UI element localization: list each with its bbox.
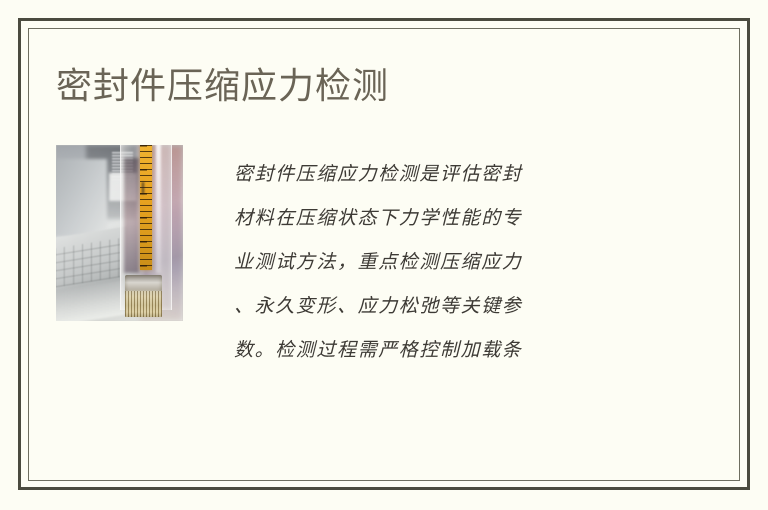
- flowmeter-brass-fitting: [125, 275, 163, 317]
- page-title: 密封件压缩应力检测: [56, 64, 389, 108]
- article-line: 、永久变形、应力松弛等关键参: [234, 284, 646, 328]
- flowmeter-major-ticks: [140, 145, 148, 270]
- article-line: 数。检测过程需严格控制加载条: [234, 328, 646, 372]
- flowmeter-float: [142, 182, 144, 193]
- article-body: 密封件压缩应力检测是评估密封 材料在压缩状态下力学性能的专 业测试方法，重点检测…: [234, 152, 646, 372]
- flowmeter-scale: [140, 145, 152, 270]
- article-line: 材料在压缩状态下力学性能的专: [234, 196, 646, 240]
- photo-laptop-lid: [56, 159, 107, 236]
- flowmeter-glass-highlight: [156, 145, 161, 273]
- flowmeter-inner-tube: [124, 158, 139, 273]
- article-line: 密封件压缩应力检测是评估密封: [234, 152, 646, 196]
- article-page: 密封件压缩应力检测: [0, 0, 768, 510]
- flowmeter-body: [120, 145, 173, 310]
- flowmeter-knurled-grip: [125, 291, 163, 317]
- article-line: 业测试方法，重点检测压缩应力: [234, 240, 646, 284]
- flowmeter-photo-scene: [56, 145, 183, 321]
- article-image: [56, 145, 183, 321]
